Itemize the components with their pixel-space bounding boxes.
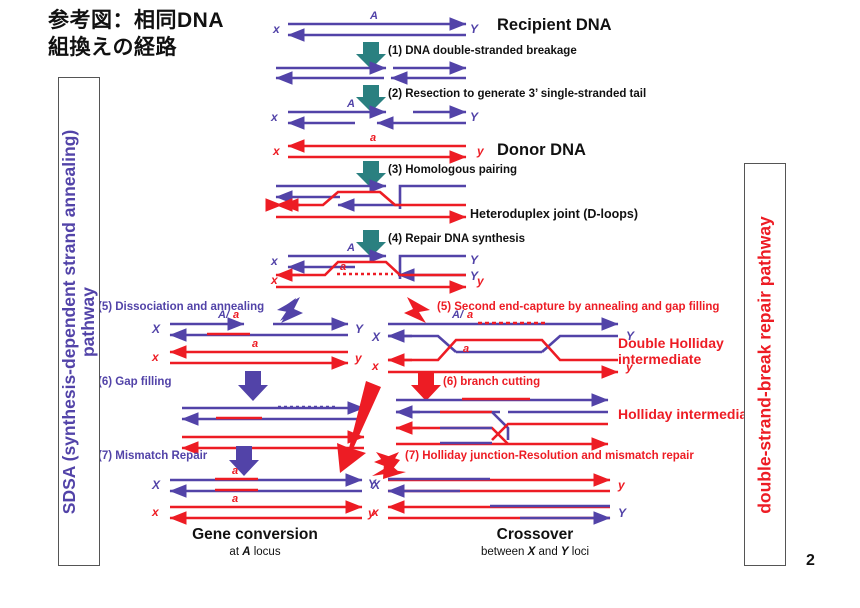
sdsa-step6-arrow xyxy=(238,371,268,401)
co-sub-pre: between xyxy=(481,546,528,558)
svg-text:X: X xyxy=(151,322,161,336)
svg-text:A: A xyxy=(369,10,378,22)
step-1-label: (1) DNA double-stranded breakage xyxy=(388,45,577,57)
svg-text:X: X xyxy=(151,478,161,492)
sdsa-step-5-label: (5) Dissociation and annealing xyxy=(98,301,264,313)
right-branch-arrow-5 xyxy=(404,297,430,323)
holliday-intermediate-structure xyxy=(396,399,608,444)
svg-text:A: A xyxy=(346,98,355,110)
gc-sub-locus: A xyxy=(242,546,250,558)
svg-text:x: x xyxy=(371,505,380,519)
sdsa-pathway-label: SDSA (synthesis-dependent strand anneali… xyxy=(60,129,99,513)
co-sub-post: loci xyxy=(569,546,589,558)
crossover-products: X y x Y xyxy=(371,478,627,520)
donor-dna-label: Donor DNA xyxy=(497,141,586,160)
svg-text:a: a xyxy=(340,261,346,273)
double-holliday-label-line2: intermediate xyxy=(618,352,724,368)
svg-text:a: a xyxy=(463,343,469,355)
outcome-crossover-title: Crossover xyxy=(450,526,620,544)
double-holliday-label: Double Holliday intermediate xyxy=(618,336,724,368)
broken-dna-duplex xyxy=(276,68,466,78)
svg-text:x: x xyxy=(151,505,160,519)
svg-text:x: x xyxy=(272,144,281,158)
recipient-dna-label: Recipient DNA xyxy=(497,16,612,35)
holliday-intermediate-label: Holliday intermediate xyxy=(618,406,760,422)
svg-text:Y: Y xyxy=(355,322,364,336)
svg-text:X: X xyxy=(371,330,381,344)
svg-text:x: x xyxy=(272,22,281,36)
dsbr-step-6-label: (6) branch cutting xyxy=(443,376,540,388)
teal-step-arrows xyxy=(356,42,386,257)
svg-text:x: x xyxy=(270,273,279,287)
sdsa-pathway-label-line2: pathway xyxy=(79,129,98,513)
sdsa-step5-structure: X Y A/ a x y a xyxy=(151,309,364,365)
dsbr-pathway-box: double-strand-break repair pathway xyxy=(744,163,786,566)
sdsa-pathway-label-line1: SDSA (synthesis-dependent strand anneali… xyxy=(60,129,79,513)
step-4-label: (4) Repair DNA synthesis xyxy=(388,233,525,245)
svg-text:x: x xyxy=(270,254,279,268)
dsbr-pathway-label: double-strand-break repair pathway xyxy=(755,216,776,514)
dsbr-step7-arrow xyxy=(372,452,406,479)
svg-text:y: y xyxy=(617,478,626,492)
step-2-label: (2) Resection to generate 3’ single-stra… xyxy=(388,88,646,100)
recipient-dna-duplex: x Y A xyxy=(272,10,479,36)
svg-text:A: A xyxy=(346,242,355,254)
donor-dna-duplex: x y a xyxy=(272,132,485,158)
svg-text:Y: Y xyxy=(618,506,627,520)
sdsa-step-6-label: (6) Gap filling xyxy=(98,376,171,388)
svg-text:X: X xyxy=(371,478,381,492)
co-sub-mid: and xyxy=(535,546,561,558)
left-branch-arrow-5 xyxy=(277,297,303,323)
sdsa-step6-structure xyxy=(182,407,364,448)
svg-text:y: y xyxy=(476,274,485,288)
gc-sub-post: locus xyxy=(251,546,281,558)
gc-sub-pre: at xyxy=(229,546,242,558)
svg-text:y: y xyxy=(476,144,485,158)
big-diagonal-red-arrow xyxy=(337,381,381,473)
dsbr-step-7-label: (7) Holliday junction-Resolution and mis… xyxy=(405,450,694,462)
svg-text:x: x xyxy=(371,359,380,373)
svg-text:y: y xyxy=(354,351,363,365)
step-3-label: (3) Homologous pairing xyxy=(388,164,517,176)
dsbr-step-5-label: (5) Second end-capture by annealing and … xyxy=(437,301,719,313)
heteroduplex-joint-label: Heteroduplex joint (D-loops) xyxy=(470,207,638,221)
outcome-gene-conversion-title: Gene conversion xyxy=(170,526,340,544)
co-sub-locus-y: Y xyxy=(561,546,569,558)
outcome-crossover-subtitle: between X and Y loci xyxy=(440,546,630,558)
svg-text:x: x xyxy=(270,110,279,124)
dsbr-step6-arrow xyxy=(411,371,441,401)
slide-canvas: 参考図：相同DNA 組換えの経路 .P{stroke:#5243a8;strok… xyxy=(0,0,860,608)
page-number: 2 xyxy=(806,552,815,570)
gene-conversion-products: X Y a x y a xyxy=(151,465,377,520)
svg-text:a: a xyxy=(232,465,238,477)
svg-text:a: a xyxy=(370,132,376,144)
sdsa-pathway-box: SDSA (synthesis-dependent strand anneali… xyxy=(58,77,100,566)
heteroduplex-joint-dloop xyxy=(276,186,466,217)
svg-text:Y: Y xyxy=(470,253,479,267)
outcome-gene-conversion-subtitle: at A locus xyxy=(170,546,340,558)
svg-text:Y: Y xyxy=(470,110,479,124)
svg-text:x: x xyxy=(151,350,160,364)
svg-text:a: a xyxy=(232,493,238,505)
svg-text:Y: Y xyxy=(470,22,479,36)
double-holliday-structure: X Y x y A/ a a xyxy=(371,309,635,374)
svg-text:a: a xyxy=(252,338,258,350)
sdsa-step-7-label: (7) Mismatch Repair xyxy=(98,450,207,462)
double-holliday-label-line1: Double Holliday xyxy=(618,336,724,352)
